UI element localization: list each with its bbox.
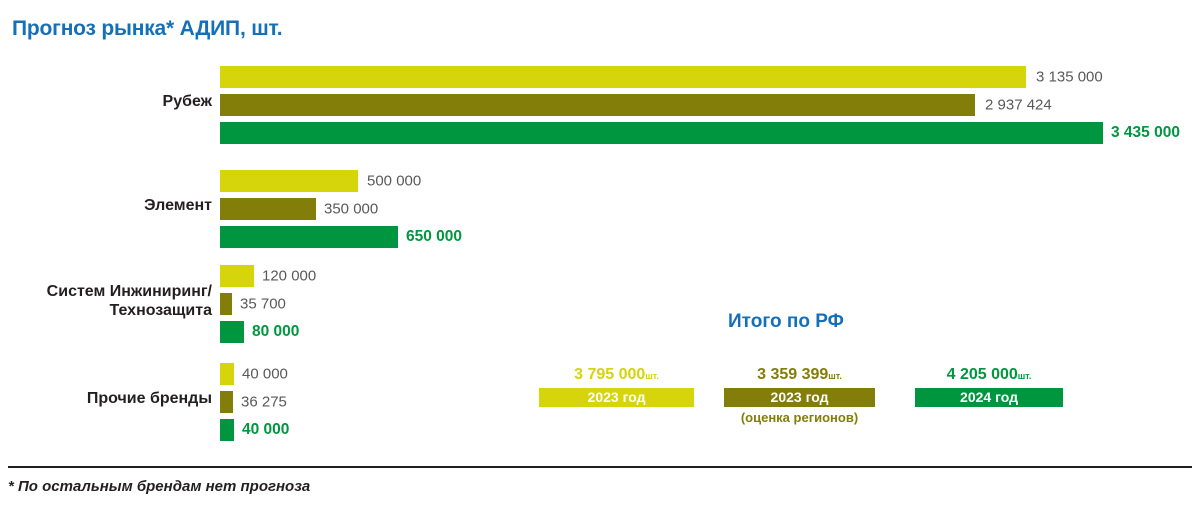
bar-2023[interactable]: [220, 265, 254, 287]
bar-2024[interactable]: [220, 321, 244, 343]
total-value: 3 795 000шт.: [539, 366, 694, 384]
bar-value-label: 650 000: [406, 228, 462, 246]
total-value: 3 359 399шт.: [724, 366, 875, 384]
category-label: Рубеж: [0, 92, 212, 111]
total-band-label: 2023 год: [539, 388, 694, 407]
bar-value-label: 40 000: [242, 421, 289, 439]
category-label: Прочие бренды: [0, 389, 212, 408]
category-label: Элемент: [0, 196, 212, 215]
bar-value-label: 350 000: [324, 201, 378, 218]
bar-2023[interactable]: [220, 363, 234, 385]
total-band-label: 2023 год: [724, 388, 875, 407]
bar-2024[interactable]: [220, 419, 234, 441]
bar-2023-region[interactable]: [220, 391, 233, 413]
bar-value-label: 80 000: [252, 323, 299, 341]
total-value-unit: шт.: [828, 371, 842, 381]
totals-heading: Итого по РФ: [728, 311, 844, 333]
total-value-unit: шт.: [645, 371, 659, 381]
bar-2024[interactable]: [220, 226, 398, 248]
bar-value-label: 500 000: [367, 173, 421, 190]
bar-value-label: 40 000: [242, 366, 288, 383]
total-value-number: 3 359 399: [757, 366, 828, 383]
bar-2023[interactable]: [220, 66, 1026, 88]
category-label: Систем Инжиниринг/ Технозащита: [0, 282, 212, 320]
total-value: 4 205 000шт.: [915, 366, 1063, 384]
bar-value-label: 3 135 000: [1036, 69, 1103, 86]
bar-2023[interactable]: [220, 170, 358, 192]
bar-2023-region[interactable]: [220, 198, 316, 220]
total-value-number: 4 205 000: [947, 366, 1018, 383]
bar-value-label: 35 700: [240, 296, 286, 313]
footnote-text: * По остальным брендам нет прогноза: [8, 478, 310, 495]
page-title: Прогноз рынка* АДИП, шт.: [12, 17, 282, 41]
bar-value-label: 36 275: [241, 394, 287, 411]
total-value-unit: шт.: [1018, 371, 1032, 381]
bar-2024[interactable]: [220, 122, 1103, 144]
total-value-number: 3 795 000: [574, 366, 645, 383]
total-band-label: 2024 год: [915, 388, 1063, 407]
footnote-divider: [8, 466, 1192, 468]
total-sub-label: (оценка регионов): [724, 410, 875, 425]
bar-2023-region[interactable]: [220, 293, 232, 315]
bar-value-label: 120 000: [262, 268, 316, 285]
bar-2023-region[interactable]: [220, 94, 975, 116]
bar-value-label: 3 435 000: [1111, 124, 1180, 142]
bar-value-label: 2 937 424: [985, 97, 1052, 114]
